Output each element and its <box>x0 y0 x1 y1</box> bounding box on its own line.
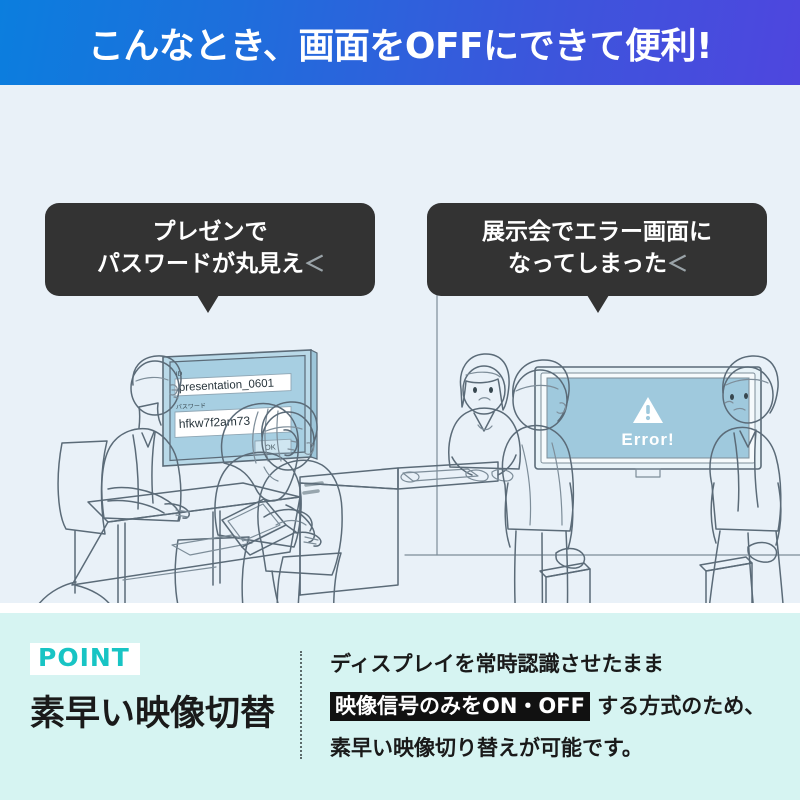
point-left-column: POINT 素早い映像切替 <box>30 643 275 736</box>
speech-bubble-left: プレゼンで パスワードが丸見え＜ <box>45 203 375 296</box>
point-body: ディスプレイを常時認識させたまま 映像信号のみをON・OFF する方式のため、 … <box>330 643 790 769</box>
bubble-left-tail <box>197 295 219 313</box>
bubble-right-line2: なってしまった＜ <box>443 249 751 281</box>
speech-bubble-right: 展示会でエラー画面に なってしまった＜ <box>427 203 767 296</box>
sweat-mark-left: ＜ <box>304 252 323 276</box>
sweat-mark-right: ＜ <box>667 252 686 276</box>
point-highlight: 映像信号のみをON・OFF <box>330 692 590 721</box>
point-body-line2: 映像信号のみをON・OFF する方式のため、 <box>330 685 790 727</box>
bubble-left-line1: プレゼンで <box>61 217 359 249</box>
point-divider <box>300 651 302 759</box>
point-body-line3: 素早い映像切り替えが可能です。 <box>330 727 790 769</box>
point-section: POINT 素早い映像切替 ディスプレイを常時認識させたまま 映像信号のみをON… <box>0 613 800 800</box>
illustration-svg: ID presentation_0601 パスワード hfkw7f2am73 O… <box>0 85 800 603</box>
error-message: Error! <box>621 430 674 449</box>
bubble-right-line1: 展示会でエラー画面に <box>443 217 751 249</box>
bubble-right-tail <box>587 295 609 313</box>
header-title: こんなとき、画面をOFFにできて便利! <box>88 17 712 69</box>
point-body-line2-rest: する方式のため、 <box>590 694 765 718</box>
bubble-left-line2: パスワードが丸見え＜ <box>61 249 359 281</box>
point-badge: POINT <box>30 643 140 675</box>
screen-password-label: パスワード <box>176 403 206 411</box>
illustration-stage: ID presentation_0601 パスワード hfkw7f2am73 O… <box>0 85 800 603</box>
point-heading: 素早い映像切替 <box>30 685 275 736</box>
presentation-screen: ID presentation_0601 パスワード hfkw7f2am73 O… <box>163 350 317 466</box>
banner-page: こんなとき、画面をOFFにできて便利! <box>0 0 800 800</box>
header-banner: こんなとき、画面をOFFにできて便利! <box>0 0 800 85</box>
point-body-line1: ディスプレイを常時認識させたまま <box>330 643 790 685</box>
